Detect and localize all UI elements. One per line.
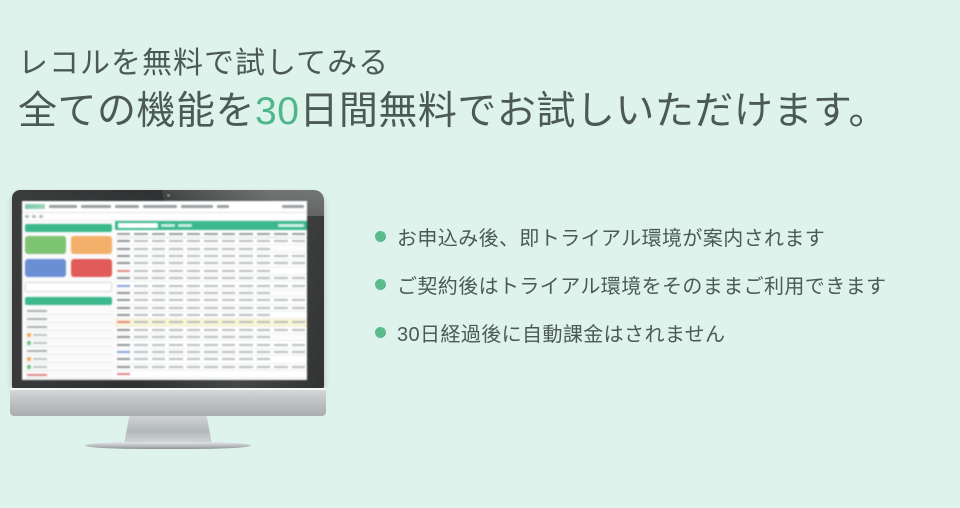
toolbar-sort-button[interactable] bbox=[178, 224, 192, 227]
break-end-button[interactable] bbox=[71, 259, 112, 277]
table-cell bbox=[239, 358, 252, 360]
table-cell bbox=[187, 373, 200, 375]
breadcrumb-chip bbox=[32, 215, 36, 218]
nav-item bbox=[143, 205, 177, 208]
table-cell bbox=[187, 248, 200, 250]
table-cell bbox=[204, 321, 217, 323]
table-cell bbox=[117, 285, 130, 287]
table-cell bbox=[169, 373, 182, 375]
table-cell bbox=[274, 292, 287, 294]
table-cell bbox=[204, 255, 217, 257]
table-cell bbox=[169, 270, 182, 272]
table-row[interactable] bbox=[115, 268, 307, 275]
heading-block: レコルを無料で試してみる 全ての機能を30日間無料でお試しいただけます。 bbox=[18, 42, 918, 138]
table-cell bbox=[152, 344, 165, 346]
table-cell bbox=[204, 358, 217, 360]
table-cell bbox=[169, 358, 182, 360]
table-cell bbox=[292, 366, 305, 368]
app-sidebar bbox=[22, 221, 115, 380]
table-cell bbox=[222, 314, 235, 316]
table-cell bbox=[257, 358, 270, 360]
table-cell bbox=[222, 344, 235, 346]
table-cell bbox=[117, 292, 130, 294]
table-cell bbox=[117, 248, 130, 250]
table-cell bbox=[292, 329, 305, 331]
table-cell bbox=[222, 277, 235, 279]
table-cell bbox=[187, 351, 200, 353]
table-row[interactable] bbox=[115, 260, 307, 267]
table-cell bbox=[222, 366, 235, 368]
table-row[interactable] bbox=[115, 364, 307, 371]
table-row[interactable] bbox=[115, 312, 307, 319]
nav-item bbox=[81, 205, 111, 208]
table-cell bbox=[169, 262, 182, 264]
table-row[interactable] bbox=[115, 327, 307, 334]
table-cell bbox=[222, 351, 235, 353]
page-title-line1: レコルを無料で試してみる bbox=[18, 42, 918, 86]
table-cell bbox=[117, 262, 130, 264]
table-row[interactable] bbox=[115, 305, 307, 312]
table-cell bbox=[187, 262, 200, 264]
break-start-button[interactable] bbox=[25, 259, 66, 277]
clock-out-button[interactable] bbox=[71, 236, 112, 254]
table-cell bbox=[134, 285, 147, 287]
table-cell bbox=[134, 336, 147, 338]
table-cell bbox=[134, 329, 147, 331]
table-body bbox=[115, 238, 307, 380]
table-cell bbox=[169, 307, 182, 309]
table-cell bbox=[274, 277, 287, 279]
table-cell bbox=[292, 351, 305, 353]
table-cell bbox=[134, 344, 147, 346]
table-row[interactable] bbox=[115, 378, 307, 380]
column-header bbox=[274, 233, 287, 235]
table-cell bbox=[292, 314, 305, 316]
table-row[interactable] bbox=[115, 282, 307, 289]
table-cell bbox=[292, 299, 305, 301]
column-header bbox=[187, 233, 200, 235]
table-cell bbox=[152, 336, 165, 338]
nav-item bbox=[49, 205, 77, 208]
table-cell bbox=[239, 262, 252, 264]
table-cell bbox=[292, 321, 305, 323]
table-cell bbox=[134, 262, 147, 264]
table-cell bbox=[292, 307, 305, 309]
column-header bbox=[169, 233, 182, 235]
table-cell bbox=[274, 314, 287, 316]
table-cell bbox=[257, 255, 270, 257]
table-cell bbox=[239, 314, 252, 316]
status-badge bbox=[27, 341, 31, 345]
table-cell bbox=[187, 321, 200, 323]
table-cell bbox=[274, 366, 287, 368]
table-row[interactable] bbox=[115, 349, 307, 356]
list-item bbox=[25, 315, 112, 323]
table-cell bbox=[187, 285, 200, 287]
column-header bbox=[152, 233, 165, 235]
table-cell bbox=[239, 255, 252, 257]
table-cell bbox=[257, 292, 270, 294]
table-cell bbox=[239, 366, 252, 368]
table-cell bbox=[117, 314, 130, 316]
table-cell bbox=[257, 373, 270, 375]
table-cell bbox=[204, 336, 217, 338]
table-cell bbox=[134, 248, 147, 250]
table-cell bbox=[222, 270, 235, 272]
monitor-chin bbox=[10, 388, 326, 416]
list-item: お申込み後、即トライアル環境が案内されます bbox=[375, 212, 950, 260]
table-cell bbox=[134, 351, 147, 353]
table-cell bbox=[204, 299, 217, 301]
table-cell bbox=[152, 314, 165, 316]
list-item bbox=[25, 323, 112, 331]
table-cell bbox=[152, 277, 165, 279]
table-cell bbox=[292, 373, 305, 375]
table-cell bbox=[222, 373, 235, 375]
row-label bbox=[27, 374, 47, 376]
table-cell bbox=[169, 292, 182, 294]
table-toolbar bbox=[115, 221, 307, 230]
table-cell bbox=[292, 285, 305, 287]
column-header bbox=[222, 233, 235, 235]
table-cell bbox=[274, 240, 287, 242]
table-cell bbox=[187, 358, 200, 360]
headline-prefix: 全ての機能を bbox=[18, 90, 255, 133]
table-cell bbox=[274, 248, 287, 250]
table-cell bbox=[187, 277, 200, 279]
list-item bbox=[25, 379, 112, 380]
table-cell bbox=[152, 292, 165, 294]
table-cell bbox=[169, 314, 182, 316]
table-cell bbox=[257, 248, 270, 250]
table-cell bbox=[169, 351, 182, 353]
table-cell bbox=[257, 314, 270, 316]
table-cell bbox=[257, 285, 270, 287]
headline-suffix: 日間無料でお試しいただけます。 bbox=[299, 90, 888, 133]
table-cell bbox=[239, 336, 252, 338]
benefit-text: 30日経過後に自動課金はされません bbox=[397, 318, 725, 347]
table-cell bbox=[222, 255, 235, 257]
table-cell bbox=[134, 321, 147, 323]
table-cell bbox=[222, 240, 235, 242]
table-cell bbox=[257, 344, 270, 346]
table-cell bbox=[134, 270, 147, 272]
toolbar-export-button[interactable] bbox=[278, 224, 304, 227]
table-cell bbox=[152, 329, 165, 331]
table-cell bbox=[117, 240, 130, 242]
table-cell bbox=[117, 329, 130, 331]
table-cell bbox=[274, 255, 287, 257]
nav-item bbox=[115, 205, 139, 208]
table-cell bbox=[257, 336, 270, 338]
table-cell bbox=[292, 270, 305, 272]
row-label bbox=[27, 350, 47, 352]
table-row[interactable] bbox=[115, 275, 307, 282]
table-cell bbox=[169, 248, 182, 250]
column-header bbox=[239, 233, 252, 235]
table-cell bbox=[169, 255, 182, 257]
table-cell bbox=[204, 270, 217, 272]
nav-item bbox=[181, 205, 213, 208]
table-cell bbox=[134, 277, 147, 279]
table-cell bbox=[222, 321, 235, 323]
table-cell bbox=[117, 255, 130, 257]
table-cell bbox=[117, 307, 130, 309]
table-cell bbox=[222, 292, 235, 294]
table-cell bbox=[187, 314, 200, 316]
table-cell bbox=[222, 358, 235, 360]
table-cell bbox=[274, 285, 287, 287]
row-value bbox=[33, 334, 47, 336]
column-header bbox=[117, 233, 130, 235]
table-row[interactable] bbox=[115, 334, 307, 341]
table-cell bbox=[239, 329, 252, 331]
table-cell bbox=[274, 307, 287, 309]
table-cell bbox=[152, 307, 165, 309]
table-cell bbox=[187, 292, 200, 294]
app-screenshot bbox=[22, 201, 307, 380]
breadcrumb-chip bbox=[25, 215, 29, 218]
table-cell bbox=[152, 373, 165, 375]
table-cell bbox=[222, 307, 235, 309]
table-cell bbox=[239, 307, 252, 309]
table-cell bbox=[187, 299, 200, 301]
promo-banner: レコルを無料で試してみる 全ての機能を30日間無料でお試しいただけます。 お申込… bbox=[0, 0, 960, 508]
table-cell bbox=[169, 299, 182, 301]
table-cell bbox=[204, 329, 217, 331]
table-cell bbox=[169, 329, 182, 331]
bullet-dot-icon bbox=[375, 231, 386, 242]
list-item bbox=[25, 347, 112, 355]
list-item: ご契約後はトライアル環境をそのままご利用できます bbox=[375, 260, 950, 308]
monitor-stand-neck bbox=[124, 416, 212, 444]
app-logo bbox=[25, 204, 45, 209]
table-cell bbox=[222, 299, 235, 301]
table-cell bbox=[187, 366, 200, 368]
list-item bbox=[25, 355, 112, 363]
table-cell bbox=[134, 314, 147, 316]
table-cell bbox=[292, 240, 305, 242]
list-item: 30日経過後に自動課金はされません bbox=[375, 308, 950, 356]
table-cell bbox=[152, 270, 165, 272]
table-cell bbox=[134, 299, 147, 301]
table-cell bbox=[204, 344, 217, 346]
monitor-screen bbox=[22, 201, 307, 380]
row-label bbox=[27, 318, 47, 320]
table-cell bbox=[292, 344, 305, 346]
table-row[interactable] bbox=[115, 371, 307, 378]
table-cell bbox=[134, 366, 147, 368]
trial-days-accent: 30 bbox=[255, 90, 299, 133]
table-cell bbox=[117, 299, 130, 301]
table-cell bbox=[239, 321, 252, 323]
table-cell bbox=[239, 240, 252, 242]
status-badge bbox=[27, 357, 31, 361]
table-cell bbox=[134, 373, 147, 375]
table-cell bbox=[134, 240, 147, 242]
table-cell bbox=[222, 329, 235, 331]
table-cell bbox=[117, 373, 130, 375]
table-cell bbox=[239, 270, 252, 272]
table-cell bbox=[257, 329, 270, 331]
table-cell bbox=[257, 299, 270, 301]
row-value bbox=[33, 342, 47, 344]
table-cell bbox=[152, 351, 165, 353]
list-item bbox=[25, 363, 112, 371]
table-cell bbox=[239, 285, 252, 287]
table-cell bbox=[169, 277, 182, 279]
table-cell bbox=[204, 262, 217, 264]
table-cell bbox=[152, 321, 165, 323]
nav-item bbox=[217, 205, 229, 208]
table-cell bbox=[274, 336, 287, 338]
table-cell bbox=[204, 248, 217, 250]
table-cell bbox=[134, 255, 147, 257]
table-cell bbox=[292, 292, 305, 294]
table-cell bbox=[222, 285, 235, 287]
table-row[interactable] bbox=[115, 245, 307, 252]
table-cell bbox=[134, 307, 147, 309]
nav-user-menu bbox=[282, 205, 304, 208]
list-item bbox=[25, 371, 112, 379]
table-cell bbox=[239, 292, 252, 294]
table-cell bbox=[274, 270, 287, 272]
table-cell bbox=[257, 366, 270, 368]
sidebar-header-bar bbox=[25, 224, 112, 232]
app-breadcrumb-bar bbox=[22, 213, 307, 221]
table-row[interactable] bbox=[115, 297, 307, 304]
table-cell bbox=[117, 270, 130, 272]
list-item bbox=[25, 339, 112, 347]
table-cell bbox=[204, 373, 217, 375]
toolbar-filter-button[interactable] bbox=[161, 224, 175, 227]
table-cell bbox=[257, 351, 270, 353]
table-cell bbox=[274, 373, 287, 375]
table-cell bbox=[169, 336, 182, 338]
table-cell bbox=[257, 321, 270, 323]
table-cell bbox=[117, 321, 130, 323]
benefit-text: ご契約後はトライアル環境をそのままご利用できます bbox=[397, 270, 886, 299]
table-cell bbox=[187, 240, 200, 242]
table-cell bbox=[257, 262, 270, 264]
row-label bbox=[27, 326, 47, 328]
table-cell bbox=[187, 270, 200, 272]
table-cell bbox=[152, 255, 165, 257]
table-cell bbox=[152, 299, 165, 301]
table-cell bbox=[169, 321, 182, 323]
table-cell bbox=[274, 358, 287, 360]
table-cell bbox=[117, 366, 130, 368]
sidebar-list-header bbox=[25, 297, 112, 305]
table-row[interactable] bbox=[115, 238, 307, 245]
table-cell bbox=[274, 299, 287, 301]
table-cell bbox=[274, 321, 287, 323]
table-cell bbox=[274, 329, 287, 331]
desktop-monitor-illustration bbox=[12, 190, 324, 391]
table-cell bbox=[187, 344, 200, 346]
table-cell bbox=[187, 255, 200, 257]
table-cell bbox=[187, 307, 200, 309]
table-cell bbox=[204, 314, 217, 316]
app-timesheet-table bbox=[115, 221, 307, 380]
table-cell bbox=[257, 270, 270, 272]
table-cell bbox=[204, 307, 217, 309]
monitor-stand-base bbox=[85, 442, 251, 449]
table-cell bbox=[169, 344, 182, 346]
table-cell bbox=[152, 248, 165, 250]
table-cell bbox=[117, 344, 130, 346]
table-cell bbox=[204, 366, 217, 368]
table-cell bbox=[274, 344, 287, 346]
table-cell bbox=[204, 285, 217, 287]
table-cell bbox=[169, 366, 182, 368]
table-cell bbox=[169, 285, 182, 287]
clock-in-button[interactable] bbox=[25, 236, 66, 254]
table-cell bbox=[204, 277, 217, 279]
period-select[interactable] bbox=[118, 223, 158, 228]
webcam-icon bbox=[167, 194, 170, 197]
table-row[interactable] bbox=[115, 356, 307, 363]
page-title-line2: 全ての機能を30日間無料でお試しいただけます。 bbox=[18, 86, 918, 138]
sidebar-search-input[interactable] bbox=[25, 282, 112, 292]
table-cell bbox=[292, 336, 305, 338]
table-cell bbox=[239, 373, 252, 375]
table-cell bbox=[292, 358, 305, 360]
table-cell bbox=[257, 307, 270, 309]
table-header-row bbox=[115, 230, 307, 238]
list-item bbox=[25, 331, 112, 339]
table-cell bbox=[204, 292, 217, 294]
table-cell bbox=[152, 358, 165, 360]
table-cell bbox=[152, 285, 165, 287]
table-cell bbox=[134, 358, 147, 360]
table-row[interactable] bbox=[115, 319, 307, 326]
table-cell bbox=[187, 329, 200, 331]
bullet-dot-icon bbox=[375, 279, 386, 290]
table-cell bbox=[117, 358, 130, 360]
table-cell bbox=[239, 277, 252, 279]
table-cell bbox=[292, 255, 305, 257]
table-cell bbox=[152, 240, 165, 242]
table-cell bbox=[117, 351, 130, 353]
table-cell bbox=[169, 240, 182, 242]
table-cell bbox=[117, 277, 130, 279]
table-cell bbox=[274, 351, 287, 353]
table-row[interactable] bbox=[115, 290, 307, 297]
table-cell bbox=[134, 292, 147, 294]
table-cell bbox=[239, 248, 252, 250]
table-cell bbox=[239, 299, 252, 301]
table-cell bbox=[152, 366, 165, 368]
table-cell bbox=[292, 277, 305, 279]
table-row[interactable] bbox=[115, 341, 307, 348]
table-row[interactable] bbox=[115, 253, 307, 260]
row-label bbox=[27, 310, 47, 312]
status-badge bbox=[27, 365, 31, 369]
benefits-list: お申込み後、即トライアル環境が案内されます ご契約後はトライアル環境をそのままご… bbox=[375, 212, 950, 356]
list-item bbox=[25, 307, 112, 315]
table-cell bbox=[239, 351, 252, 353]
table-cell bbox=[187, 336, 200, 338]
table-cell bbox=[257, 277, 270, 279]
table-cell bbox=[204, 240, 217, 242]
app-body bbox=[22, 221, 307, 380]
punch-button-grid bbox=[25, 236, 112, 277]
table-cell bbox=[222, 336, 235, 338]
bullet-dot-icon bbox=[375, 327, 386, 338]
app-top-navigation bbox=[22, 201, 307, 213]
table-cell bbox=[257, 240, 270, 242]
